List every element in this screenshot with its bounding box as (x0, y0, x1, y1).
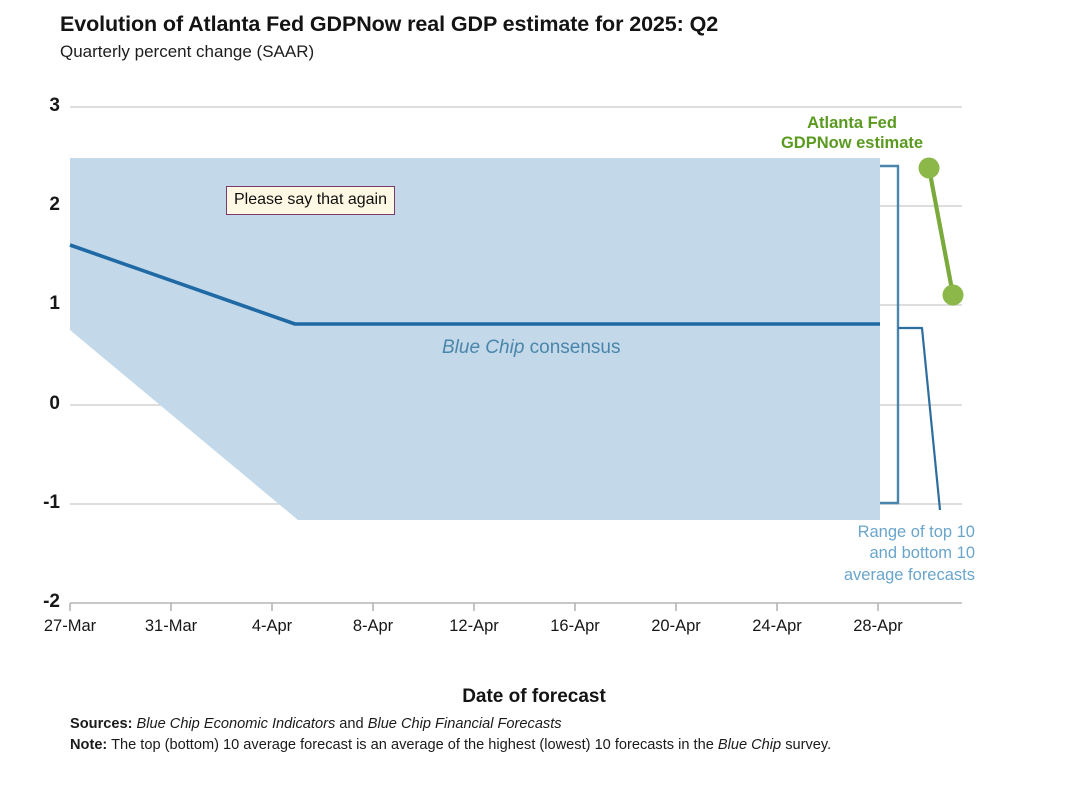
sources-line: Sources: Blue Chip Economic Indicators a… (70, 714, 970, 735)
gdpnow-label-line1: Atlanta Fed (752, 113, 952, 133)
range-line-2: and bottom 10 (720, 543, 975, 564)
dictation-tooltip[interactable]: Please say that again (226, 186, 395, 215)
range-leader-line (898, 328, 940, 510)
y-tick-1: 1 (20, 293, 60, 315)
x-tick-8-apr: 8-Apr (323, 617, 423, 636)
sources-italic-2: Blue Chip Financial Forecasts (368, 716, 562, 732)
consensus-word: consensus (524, 337, 620, 358)
note-text-b: survey. (781, 737, 831, 753)
sources-mid: and (335, 716, 367, 732)
x-tick-27-mar: 27-Mar (20, 617, 120, 636)
gdpnow-connector-line (929, 168, 953, 295)
x-tick-4-apr: 4-Apr (222, 617, 322, 636)
sources-label: Sources: (70, 716, 132, 732)
y-tick-neg2: -2 (20, 591, 60, 613)
range-annotation: Range of top 10 and bottom 10 average fo… (720, 522, 975, 586)
y-tick-3: 3 (20, 95, 60, 117)
gdpnow-marker-lower (943, 285, 964, 306)
x-tick-31-mar: 31-Mar (121, 617, 221, 636)
gdpnow-label-line2: GDPNow estimate (752, 133, 952, 153)
y-tick-neg1: -1 (20, 492, 60, 514)
x-tick-28-apr: 28-Apr (828, 617, 928, 636)
note-italic: Blue Chip (718, 737, 781, 753)
range-line-3: average forecasts (720, 565, 975, 586)
note-text-a: The top (bottom) 10 average forecast is … (107, 737, 718, 753)
x-tick-12-apr: 12-Apr (424, 617, 524, 636)
note-line: Note: The top (bottom) 10 average foreca… (70, 735, 970, 756)
plot-area: 3 2 1 0 -1 -2 27-Mar 31-Mar 4-Apr 8-Apr … (0, 0, 1068, 660)
x-axis (70, 603, 962, 611)
y-tick-2: 2 (20, 194, 60, 216)
blue-chip-italic: Blue Chip (442, 337, 524, 358)
sources-italic-1: Blue Chip Economic Indicators (137, 716, 336, 732)
range-line-1: Range of top 10 (720, 522, 975, 543)
x-tick-24-apr: 24-Apr (727, 617, 827, 636)
chart-page: Evolution of Atlanta Fed GDPNow real GDP… (0, 0, 1068, 785)
x-axis-caption: Date of forecast (0, 686, 1068, 708)
y-tick-0: 0 (20, 393, 60, 415)
x-tick-20-apr: 20-Apr (626, 617, 726, 636)
chart-notes: Sources: Blue Chip Economic Indicators a… (70, 714, 970, 755)
x-tick-16-apr: 16-Apr (525, 617, 625, 636)
note-label: Note: (70, 737, 107, 753)
range-bracket (880, 166, 898, 503)
blue-chip-consensus-label: Blue Chip consensus (442, 337, 621, 359)
gdpnow-estimate-label: Atlanta Fed GDPNow estimate (752, 113, 952, 154)
gdpnow-marker-upper (919, 158, 940, 179)
